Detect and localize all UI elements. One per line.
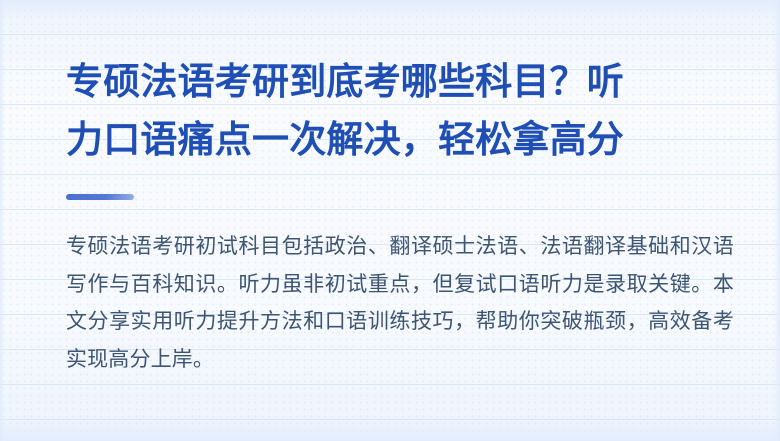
title-underline-accent xyxy=(66,194,134,200)
article-title-line-2: 力口语痛点一次解决，轻松拿高分 xyxy=(66,117,624,161)
left-edge-gradient xyxy=(0,0,4,441)
article-summary: 专硕法语考研初试科目包括政治、翻译硕士法语、法语翻译基础和汉语写作与百科知识。听… xyxy=(66,228,734,378)
article-title: 专硕法语考研到底考哪些科目？听力口语痛点一次解决，轻松拿高分 xyxy=(66,52,734,168)
article-title-line-1: 专硕法语考研到底考哪些科目？听 xyxy=(66,59,624,103)
article-content: 专硕法语考研到底考哪些科目？听力口语痛点一次解决，轻松拿高分 专硕法语考研初试科… xyxy=(66,0,738,441)
article-hero-canvas: 专硕法语考研到底考哪些科目？听力口语痛点一次解决，轻松拿高分 专硕法语考研初试科… xyxy=(0,0,780,441)
right-edge-gradient xyxy=(774,0,780,441)
